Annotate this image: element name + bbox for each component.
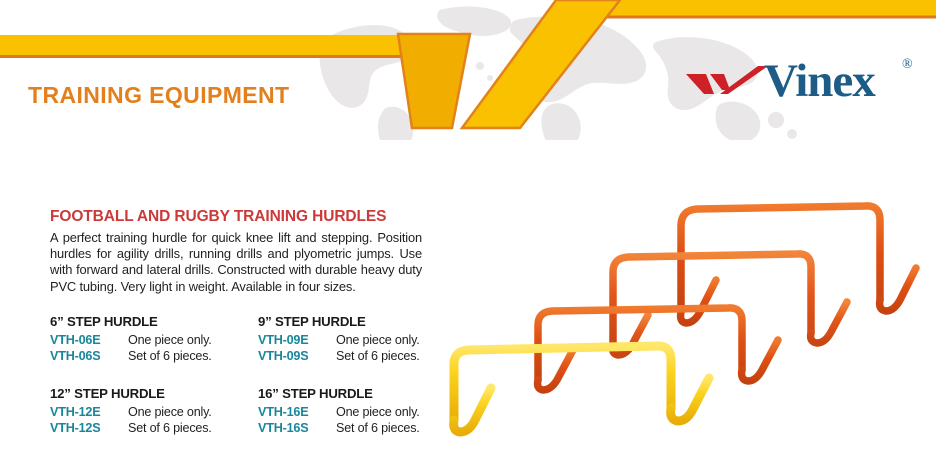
- variant-size-label: 6” STEP HURDLE: [50, 314, 258, 329]
- variant-packaging: One piece only.: [336, 332, 420, 348]
- variant-packaging: One piece only.: [128, 332, 212, 348]
- variant-packaging: One piece only.: [336, 404, 420, 420]
- product-image-hurdles: [428, 140, 936, 475]
- variant-size-label: 12” STEP HURDLE: [50, 386, 258, 401]
- product-variant-grid: 6” STEP HURDLE VTH-06E One piece only. V…: [50, 314, 460, 436]
- variant-group-12-inch: 12” STEP HURDLE VTH-12E One piece only. …: [50, 386, 258, 436]
- variant-packaging: One piece only.: [128, 404, 212, 420]
- variant-code: VTH-16E: [258, 404, 336, 420]
- variant-row[interactable]: VTH-12S Set of 6 pieces.: [50, 420, 258, 436]
- variant-group-6-inch: 6” STEP HURDLE VTH-06E One piece only. V…: [50, 314, 258, 364]
- vinex-mark-icon: [684, 64, 772, 98]
- variant-code: VTH-09E: [258, 332, 336, 348]
- product-description: A perfect training hurdle for quick knee…: [50, 230, 422, 295]
- variant-code: VTH-06S: [50, 348, 128, 364]
- variant-code: VTH-16S: [258, 420, 336, 436]
- page-header: TRAINING EQUIPMENT Vinex ®: [0, 0, 936, 140]
- product-title: FOOTBALL AND RUGBY TRAINING HURDLES: [50, 208, 450, 226]
- variant-packaging: Set of 6 pieces.: [336, 420, 420, 436]
- variant-packaging: Set of 6 pieces.: [128, 420, 212, 436]
- product-info-block: FOOTBALL AND RUGBY TRAINING HURDLES A pe…: [50, 208, 450, 295]
- variant-row[interactable]: VTH-06E One piece only.: [50, 332, 258, 348]
- variant-code: VTH-12E: [50, 404, 128, 420]
- svg-text:Vinex: Vinex: [764, 55, 876, 107]
- brand-logo: Vinex ®: [684, 56, 924, 108]
- variant-row[interactable]: VTH-06S Set of 6 pieces.: [50, 348, 258, 364]
- variant-row[interactable]: VTH-12E One piece only.: [50, 404, 258, 420]
- variant-code: VTH-09S: [258, 348, 336, 364]
- variant-code: VTH-06E: [50, 332, 128, 348]
- variant-packaging: Set of 6 pieces.: [336, 348, 420, 364]
- vinex-wordmark: Vinex ®: [764, 52, 924, 108]
- page-title: TRAINING EQUIPMENT: [28, 82, 289, 109]
- hurdle-6-inch: [454, 346, 709, 432]
- catalog-page: TRAINING EQUIPMENT Vinex ® FOOTBALL AND …: [0, 0, 936, 475]
- registered-mark: ®: [902, 57, 913, 72]
- variant-packaging: Set of 6 pieces.: [128, 348, 212, 364]
- variant-code: VTH-12S: [50, 420, 128, 436]
